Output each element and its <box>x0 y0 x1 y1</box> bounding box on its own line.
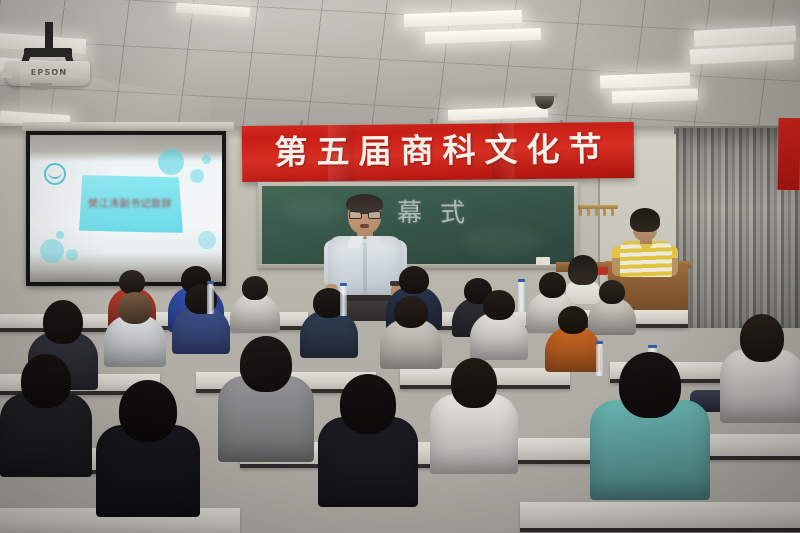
bottle-cap <box>207 281 214 284</box>
person-white-blouse-head <box>539 272 566 298</box>
bottle-cap <box>340 283 347 286</box>
person-right-edge-white <box>720 314 800 436</box>
coat-hook-peg <box>587 209 590 216</box>
person-white-tshirt <box>104 292 166 376</box>
person-far-right-head <box>599 280 625 304</box>
projection-screen-housing <box>22 122 234 131</box>
person-white-shirt-right <box>430 358 518 488</box>
classroom-photo-scene: EPSON 樊江涛副书记致辞 <box>0 0 800 533</box>
screen-glare <box>30 135 222 282</box>
blackboard-frame: 开幕式 <box>258 182 578 268</box>
banner-right-section <box>777 118 800 190</box>
water-bottle-icon <box>518 282 525 312</box>
water-bottle-icon <box>340 286 347 316</box>
person-gray-tee-head <box>240 336 292 392</box>
speaker-mouth <box>360 224 369 228</box>
person-long-hair-left-head <box>43 300 83 344</box>
banner-text: 第五届商科文化节 <box>242 127 634 175</box>
person-white-tshirt-head <box>118 292 152 324</box>
coat-hook-peg <box>611 209 614 216</box>
bottle-cap <box>596 341 603 344</box>
projector-side-bracket <box>0 72 12 78</box>
person-black-top-mid-head <box>340 374 396 434</box>
coat-hook-peg <box>595 209 598 216</box>
glasses-bridge <box>360 213 368 214</box>
person-white-top <box>230 276 280 340</box>
person-gray-tee <box>218 336 314 478</box>
desk-row-front <box>700 434 800 460</box>
podium-person-hair <box>630 208 660 232</box>
ceiling <box>0 0 800 132</box>
coat-hook-peg <box>603 209 606 216</box>
person-navy-shirt-head <box>399 266 429 294</box>
ceiling-tile-grid <box>0 0 800 132</box>
person-black-top-mid <box>318 374 418 524</box>
person-dark-foreground-left-head <box>21 354 71 408</box>
glasses-icon <box>368 211 381 219</box>
projector-brand-label: EPSON <box>26 68 72 77</box>
person-red-shirt-head <box>119 270 145 294</box>
person-black-hair-center <box>96 380 200 533</box>
person-black-hair-center-head <box>119 380 177 442</box>
projector-lens <box>30 83 52 90</box>
person-white-right-head <box>483 290 515 320</box>
person-ponytail-mid-head <box>394 296 428 328</box>
person-teal-ponytail-head <box>619 352 681 418</box>
person-orange-pattern-head <box>558 306 588 334</box>
projection-screen-surface: 樊江涛副书记致辞 <box>30 135 222 282</box>
bottle-cap <box>518 279 525 282</box>
chalk-smudge <box>462 226 542 256</box>
coat-hook-peg <box>579 209 582 216</box>
audience-area <box>0 262 800 533</box>
person-dark-foreground-left <box>0 354 92 492</box>
person-at-podium <box>618 208 674 270</box>
person-white-shirt-right-head <box>451 358 497 408</box>
bottle-cap <box>648 345 657 348</box>
person-right-edge-white-head <box>740 314 784 362</box>
red-event-banner: 第五届商科文化节 <box>242 122 635 182</box>
water-bottle-icon <box>207 284 214 314</box>
blackboard: 开幕式 <box>262 186 574 264</box>
person-white-top-head <box>242 276 268 300</box>
person-teal-ponytail <box>590 352 710 518</box>
